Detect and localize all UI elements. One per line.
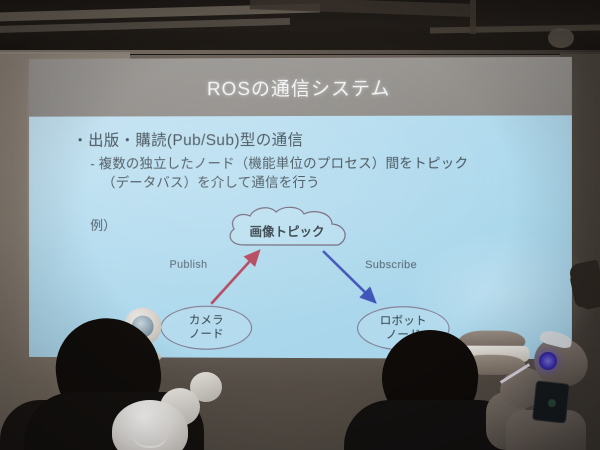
publish-arrow: [211, 251, 259, 304]
wall-ceiling-seam: [0, 50, 600, 54]
node-camera-line1: カメラ: [162, 314, 252, 328]
node-camera-line2: ノード: [162, 328, 252, 342]
subscribe-label: Subscribe: [365, 259, 417, 271]
ceiling-duct: [250, 0, 470, 17]
humanoid-robot-tablet: [532, 380, 570, 423]
publish-label: Publish: [169, 259, 207, 271]
projected-slide: ROSの通信システム ・出版・購読(Pub/Sub)型の通信 - 複数の独立した…: [29, 57, 572, 359]
humanoid-robot-eye: [539, 352, 557, 370]
photo-scene: ROSの通信システム ・出版・購読(Pub/Sub)型の通信 - 複数の独立した…: [0, 0, 600, 450]
ceiling-fixture: [548, 28, 574, 48]
ceiling-duct: [430, 25, 600, 34]
ceiling-pipe: [470, 0, 476, 34]
node-robot-line1: ロボット: [358, 314, 448, 328]
topic-cloud-label: 画像トピック: [222, 221, 352, 240]
topic-cloud: 画像トピック: [222, 205, 352, 255]
node-camera: カメラ ノード: [161, 306, 253, 350]
